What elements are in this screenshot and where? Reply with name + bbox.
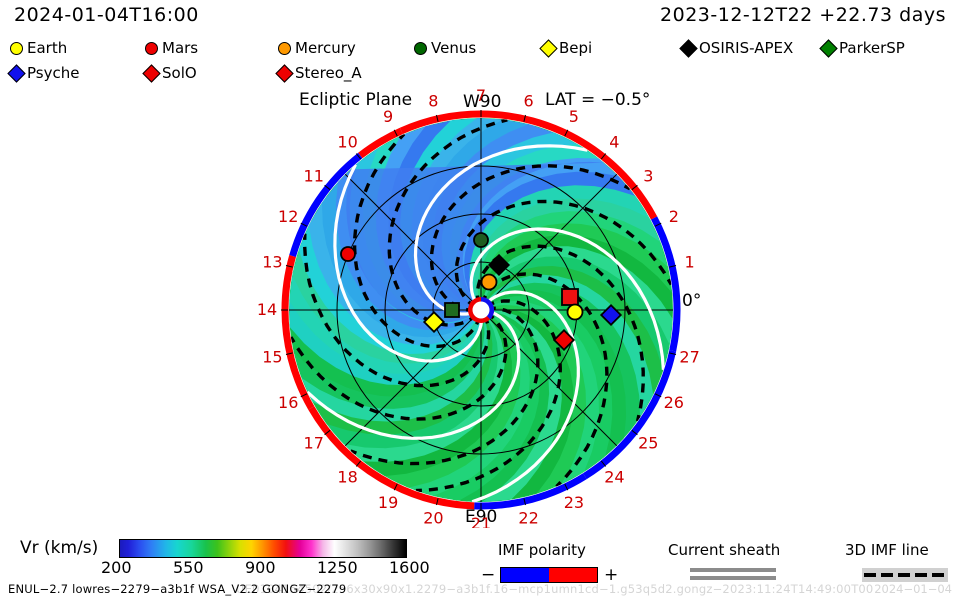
dash-segment bbox=[864, 573, 876, 577]
carrington-tick-label: 8 bbox=[428, 91, 438, 110]
colorbar-tick-label: 200 bbox=[101, 558, 132, 577]
body-marker-earth bbox=[568, 305, 583, 320]
carrington-tick-label: 20 bbox=[423, 509, 443, 528]
carrington-tick-label: 11 bbox=[304, 167, 324, 186]
legend-item-solo: SolO bbox=[145, 61, 197, 86]
carrington-tick-label: 17 bbox=[304, 433, 324, 452]
current-sheath-swatch bbox=[690, 568, 776, 582]
carrington-tick-label: 27 bbox=[679, 348, 699, 367]
carrington-tick-label: 4 bbox=[609, 133, 619, 152]
colorbar-tick-label: 1600 bbox=[389, 558, 430, 577]
circle-marker-icon bbox=[145, 42, 158, 55]
colorbar-tick-label: 1250 bbox=[317, 558, 358, 577]
carrington-tick-label: 25 bbox=[638, 433, 658, 452]
carrington-tick-label: 9 bbox=[383, 107, 393, 126]
dash-segment bbox=[915, 573, 927, 577]
diamond-marker-icon bbox=[7, 64, 25, 82]
carrington-tick-label: 26 bbox=[664, 393, 684, 412]
legend-item-label: Earth bbox=[27, 41, 67, 56]
legend-item-bepi: Bepi bbox=[542, 36, 592, 61]
carrington-tick-label: 21 bbox=[471, 514, 491, 528]
body-marker-venus bbox=[474, 233, 488, 247]
legend-item-venus: Venus bbox=[414, 36, 476, 61]
colorbar-tick-label: 550 bbox=[173, 558, 204, 577]
diamond-marker-icon bbox=[275, 64, 293, 82]
colorbar-tick-label: 900 bbox=[245, 558, 276, 577]
legend-item-label: Venus bbox=[431, 41, 476, 56]
carrington-tick-label: 18 bbox=[337, 467, 357, 486]
current-sheath-title: Current sheath bbox=[668, 541, 780, 559]
legend-item-label: Mercury bbox=[295, 41, 356, 56]
carrington-tick-label: 6 bbox=[524, 91, 534, 110]
legend-item-label: Psyche bbox=[27, 66, 79, 81]
legend-row: EarthMarsMercuryVenusBepiOSIRIS-APEXPark… bbox=[10, 36, 950, 61]
model-run-id: ENUL−2.7 lowres−2279−a3b1f WSA_V2.2 GONG… bbox=[8, 582, 346, 596]
vr-colorbar bbox=[119, 539, 407, 558]
zero-longitude-label: 0° bbox=[682, 291, 701, 311]
plot-title: Ecliptic Plane bbox=[299, 90, 412, 110]
diamond-marker-icon bbox=[539, 39, 557, 57]
carrington-tick-label: 12 bbox=[278, 207, 298, 226]
legend-item-mercury: Mercury bbox=[278, 36, 356, 61]
imf-polarity-swatch bbox=[500, 567, 598, 583]
carrington-tick-label: 23 bbox=[564, 493, 584, 512]
carrington-tick-label: 19 bbox=[378, 493, 398, 512]
diamond-marker-icon bbox=[679, 39, 697, 57]
carrington-tick-label: 22 bbox=[518, 509, 538, 528]
sun-marker bbox=[468, 297, 494, 323]
legend-item-earth: Earth bbox=[10, 36, 67, 61]
legend-item-mars: Mars bbox=[145, 36, 198, 61]
legend-item-label: OSIRIS-APEX bbox=[699, 41, 793, 56]
colorbar-label: Vr (km/s) bbox=[20, 538, 98, 558]
legend-row: PsycheSolOStereo_A bbox=[10, 61, 950, 86]
dash-segment bbox=[881, 573, 893, 577]
body-legend: EarthMarsMercuryVenusBepiOSIRIS-APEXPark… bbox=[10, 36, 950, 86]
legend-item-label: ParkerSP bbox=[839, 41, 905, 56]
carrington-tick-label: 7 bbox=[476, 88, 486, 105]
legend-item-label: Stereo_A bbox=[295, 66, 362, 81]
carrington-tick-label: 13 bbox=[262, 252, 282, 271]
circle-marker-icon bbox=[10, 42, 23, 55]
carrington-tick-label: 15 bbox=[262, 348, 282, 367]
carrington-tick-label: 5 bbox=[569, 107, 579, 126]
legend-item-osiris-apex: OSIRIS-APEX bbox=[682, 36, 793, 61]
model-epoch-label: 2023-12-12T22 +22.73 days bbox=[660, 4, 946, 26]
imf-3d-line-title: 3D IMF line bbox=[845, 541, 929, 559]
legend-item-psyche: Psyche bbox=[10, 61, 79, 86]
latitude-label: LAT = −0.5° bbox=[545, 90, 650, 110]
carrington-tick-label: 10 bbox=[337, 133, 357, 152]
legend-item-label: Bepi bbox=[559, 41, 592, 56]
carrington-tick-label: 16 bbox=[278, 393, 298, 412]
body-marker-mars bbox=[341, 247, 355, 261]
carrington-tick-label: 3 bbox=[643, 167, 653, 186]
valid-time-label: 2024-01-04T16:00 bbox=[14, 4, 199, 26]
legend-item-parkersp: ParkerSP bbox=[822, 36, 905, 61]
body-marker-solo bbox=[562, 289, 578, 305]
dash-segment bbox=[932, 573, 944, 577]
dash-segment bbox=[898, 573, 910, 577]
diamond-marker-icon bbox=[142, 64, 160, 82]
circle-marker-icon bbox=[414, 42, 427, 55]
body-marker-parkersp bbox=[445, 303, 459, 317]
ecliptic-plane-plot: Ecliptic Plane LAT = −0.5° W90 E90 0° 12… bbox=[0, 88, 960, 528]
carrington-tick-label: 24 bbox=[604, 467, 624, 486]
imf-positive-swatch bbox=[549, 568, 597, 582]
imf-negative-swatch bbox=[501, 568, 549, 582]
legend-item-stereo-a: Stereo_A bbox=[278, 61, 362, 86]
circle-marker-icon bbox=[278, 42, 291, 55]
carrington-tick-label: 14 bbox=[257, 300, 277, 319]
legend-item-label: Mars bbox=[162, 41, 198, 56]
diamond-marker-icon bbox=[819, 39, 837, 57]
body-marker-mercury bbox=[482, 275, 497, 290]
footer-ghost-date: 2024−01−04 bbox=[874, 582, 952, 596]
imf-polarity-title: IMF polarity bbox=[498, 541, 586, 559]
carrington-tick-label: 2 bbox=[669, 207, 679, 226]
legend-item-label: SolO bbox=[162, 66, 197, 81]
imf-3d-line-swatch bbox=[862, 568, 948, 582]
carrington-tick-label: 1 bbox=[685, 252, 695, 271]
